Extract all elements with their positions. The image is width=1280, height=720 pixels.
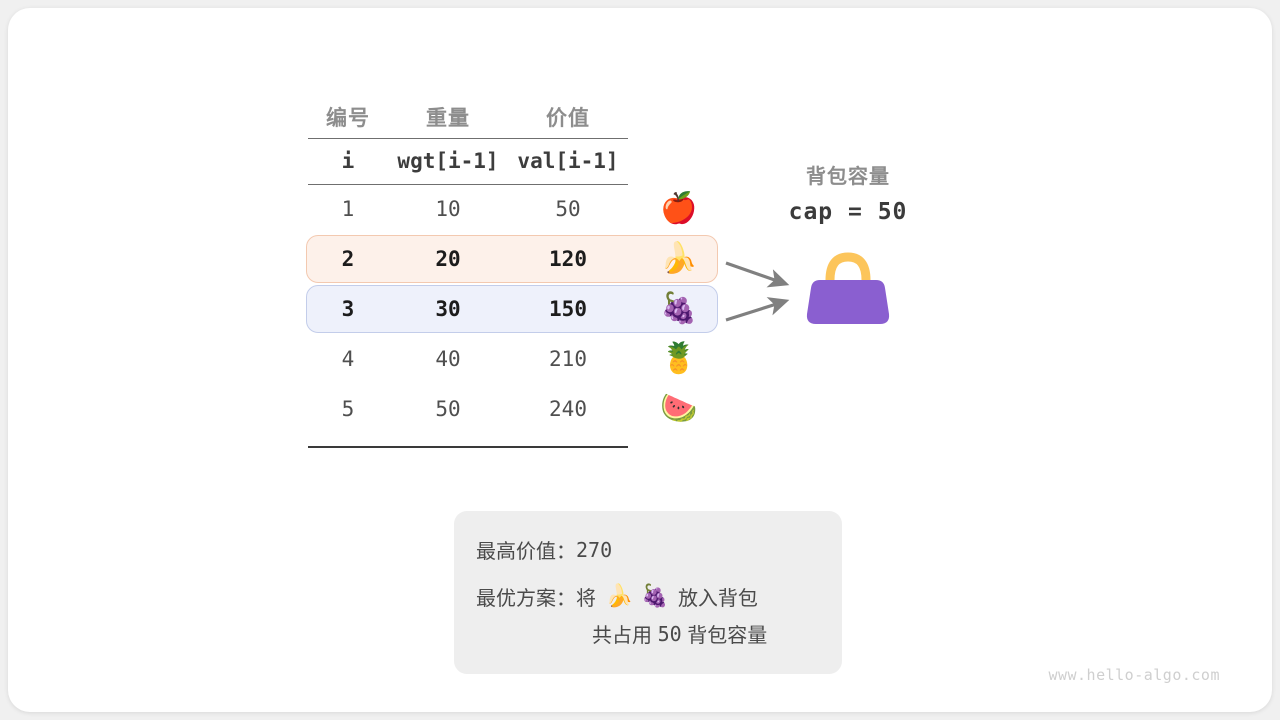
cell-value: 150 — [508, 297, 628, 321]
grapes-icon: 🍇 — [656, 294, 702, 324]
cell-index: 3 — [308, 297, 388, 321]
handbag-svg — [802, 242, 894, 334]
summary-total-value: 50 — [658, 622, 682, 646]
cell-index: 2 — [308, 247, 388, 271]
cell-value: 120 — [508, 247, 628, 271]
result-summary-box: 最高价值：270 最优方案：将 🍌🍇 放入背包 共占用 50 背包容量 — [454, 511, 842, 674]
cell-weight: 40 — [388, 347, 508, 371]
screenshot-canvas: 编号 重量 价值 i wgt[i-1] val[i-1] 1 10 50 — [0, 0, 1280, 720]
header-cn-weight: 重量 — [388, 102, 508, 132]
summary-plan-label: 最优方案： — [476, 582, 576, 611]
cell-value: 50 — [508, 197, 628, 221]
knapsack-capacity-block: 背包容量 cap = 50 — [748, 160, 948, 225]
arrow-from-grapes-row — [726, 301, 786, 320]
selection-arrows — [720, 256, 804, 345]
purple-handbag-icon — [802, 242, 894, 339]
summary-max-value-line: 最高价值：270 — [476, 535, 820, 564]
watermelon-icon: 🍉 — [656, 394, 702, 424]
table-header-cn: 编号 重量 价值 — [308, 96, 628, 138]
capacity-title: 背包容量 — [748, 160, 948, 189]
header-code-index: i — [308, 149, 388, 173]
summary-plan-prefix: 将 — [576, 582, 596, 611]
cell-index: 1 — [308, 197, 388, 221]
cell-weight: 10 — [388, 197, 508, 221]
table-row[interactable]: 3 30 150 🍇 — [308, 284, 628, 334]
summary-total-line: 共占用 50 背包容量 — [476, 619, 820, 648]
table-row[interactable]: 5 50 240 🍉 — [308, 384, 628, 434]
summary-plan-line: 最优方案：将 🍌🍇 放入背包 — [476, 582, 820, 611]
summary-total-prefix: 共占用 — [592, 619, 652, 648]
table-row[interactable]: 2 20 120 🍌 — [308, 234, 628, 284]
table-rule-top — [308, 138, 628, 139]
cell-weight: 30 — [388, 297, 508, 321]
cell-index: 4 — [308, 347, 388, 371]
capacity-value: cap = 50 — [748, 199, 948, 225]
summary-plan-suffix: 放入背包 — [678, 582, 758, 611]
pineapple-icon: 🍍 — [656, 344, 702, 374]
banana-icon: 🍌 — [602, 586, 637, 608]
header-cn-index: 编号 — [308, 102, 388, 132]
summary-max-value-label: 最高价值： — [476, 535, 576, 564]
table-rule-under-code-header — [308, 184, 628, 185]
cell-weight: 20 — [388, 247, 508, 271]
summary-total-suffix: 背包容量 — [687, 619, 767, 648]
arrow-from-banana-row — [726, 263, 786, 284]
knapsack-items-table: 编号 重量 价值 i wgt[i-1] val[i-1] 1 10 50 — [308, 96, 628, 434]
table-rule-bottom — [308, 446, 628, 448]
cell-weight: 50 — [388, 397, 508, 421]
summary-max-value: 270 — [576, 538, 612, 562]
cell-value: 210 — [508, 347, 628, 371]
site-url: www.hello-algo.com — [1048, 666, 1220, 684]
banana-icon: 🍌 — [656, 244, 702, 274]
header-code-value: val[i-1] — [508, 149, 628, 173]
table-header-code: i wgt[i-1] val[i-1] — [308, 138, 628, 184]
cell-value: 240 — [508, 397, 628, 421]
illustration-card: 编号 重量 价值 i wgt[i-1] val[i-1] 1 10 50 — [8, 8, 1272, 712]
apple-icon: 🍎 — [656, 194, 702, 224]
table-row[interactable]: 1 10 50 🍎 — [308, 184, 628, 234]
grapes-icon: 🍇 — [637, 586, 672, 608]
header-code-weight: wgt[i-1] — [388, 149, 508, 173]
arrows-svg — [720, 256, 804, 340]
table-row[interactable]: 4 40 210 🍍 — [308, 334, 628, 384]
cell-index: 5 — [308, 397, 388, 421]
header-cn-value: 价值 — [508, 102, 628, 132]
